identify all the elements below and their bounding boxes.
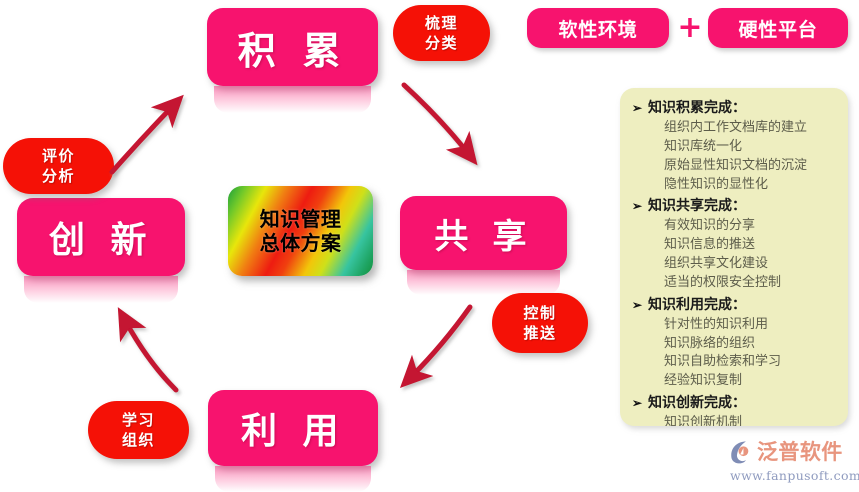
watermark-row: 泛普软件: [728, 439, 843, 465]
arrow-accumulate-to-share: [404, 85, 467, 152]
tag-control-push-line1: 控制: [523, 303, 556, 323]
outcome-item-list: 针对性的知识利用 知识脉络的组织 知识自助检索和学习 经验知识复制: [626, 316, 840, 391]
outcome-item: 知识库统一化: [664, 138, 840, 157]
outcome-group-header: ➢ 知识利用完成：: [626, 295, 840, 316]
outcome-group: ➢ 知识积累完成： 组织内工作文档库的建立 知识库统一化 原始显性知识文档的沉淀…: [626, 98, 840, 194]
outcome-item: 组织共享文化建设: [664, 255, 840, 274]
tag-control-push: 控制 推送: [492, 293, 588, 353]
cycle-node-accumulate-label: 积 累: [238, 20, 348, 75]
outcome-group-title: 知识利用完成：: [648, 295, 746, 316]
outcome-group-title: 知识积累完成：: [648, 98, 746, 119]
header-hard-label: 硬性平台: [738, 15, 817, 42]
arrow-innovate-to-accumulate: [112, 107, 172, 172]
cycle-node-accumulate: 积 累: [207, 8, 378, 86]
outcome-group-header: ➢ 知识积累完成：: [626, 98, 840, 119]
outcome-item-list: 有效知识的分享 知识信息的推送 组织共享文化建设 适当的权限安全控制: [626, 217, 840, 292]
tag-sort-classify-line2: 分类: [425, 33, 458, 53]
center-title-box: 知识管理 总体方案: [228, 186, 373, 276]
bullet-arrow-icon: ➢: [626, 99, 648, 117]
fanpu-logo-icon: [728, 439, 754, 465]
arrow-utilize-to-innovate: [126, 322, 176, 390]
tag-learn-organize-line1: 学习: [122, 410, 155, 430]
cycle-node-share-label: 共 享: [434, 209, 532, 258]
plus-label: +: [677, 13, 702, 43]
watermark-url: www.fanpusoft.com: [730, 468, 859, 483]
cycle-node-utilize: 利 用: [208, 390, 378, 466]
cycle-node-share: 共 享: [400, 196, 567, 270]
plus-sign: +: [673, 10, 707, 46]
outcome-group: ➢ 知识利用完成： 针对性的知识利用 知识脉络的组织 知识自助检索和学习 经验知…: [626, 295, 840, 391]
cycle-node-innovate: 创 新: [17, 198, 185, 276]
outcome-item-list: 知识创新机制 促进组织创新: [626, 414, 840, 426]
outcome-item-list: 组织内工作文档库的建立 知识库统一化 原始显性知识文档的沉淀 隐性知识的显性化: [626, 119, 840, 194]
outcome-item: 隐性知识的显性化: [664, 176, 840, 195]
bullet-arrow-icon: ➢: [626, 197, 648, 215]
center-title-line1: 知识管理: [260, 207, 342, 231]
outcome-group: ➢ 知识共享完成： 有效知识的分享 知识信息的推送 组织共享文化建设 适当的权限…: [626, 196, 840, 292]
header-pill-soft-environment: 软性环境: [527, 8, 669, 48]
outcome-group-header: ➢ 知识共享完成：: [626, 196, 840, 217]
cycle-node-utilize-label: 利 用: [241, 402, 345, 454]
outcome-item: 知识创新机制: [664, 414, 840, 426]
outcome-item: 原始显性知识文档的沉淀: [664, 157, 840, 176]
outcome-group-title: 知识共享完成：: [648, 196, 746, 217]
tag-evaluate-analyze: 评价 分析: [3, 138, 114, 194]
outcome-item: 组织内工作文档库的建立: [664, 119, 840, 138]
outcome-item: 经验知识复制: [664, 372, 840, 391]
outcomes-panel: ➢ 知识积累完成： 组织内工作文档库的建立 知识库统一化 原始显性知识文档的沉淀…: [620, 88, 848, 426]
tag-control-push-line2: 推送: [523, 323, 556, 343]
header-soft-label: 软性环境: [558, 15, 637, 42]
outcome-item: 有效知识的分享: [664, 217, 840, 236]
outcome-item: 适当的权限安全控制: [664, 274, 840, 293]
tag-evaluate-analyze-line2: 分析: [42, 166, 75, 186]
tag-sort-classify: 梳理 分类: [393, 5, 490, 61]
header-pill-hard-platform: 硬性平台: [708, 8, 848, 48]
bullet-arrow-icon: ➢: [626, 296, 648, 314]
center-title-line2: 总体方案: [260, 231, 342, 255]
outcome-group-header: ➢ 知识创新完成：: [626, 393, 840, 414]
outcome-item: 知识信息的推送: [664, 236, 840, 255]
watermark-brand: 泛普软件: [757, 442, 843, 463]
outcome-item: 知识脉络的组织: [664, 335, 840, 354]
tag-evaluate-analyze-line1: 评价: [42, 146, 75, 166]
outcome-item: 知识自助检索和学习: [664, 353, 840, 372]
tag-learn-organize: 学习 组织: [88, 401, 189, 459]
bullet-arrow-icon: ➢: [626, 394, 648, 412]
arrow-share-to-utilize: [412, 307, 470, 376]
outcome-group: ➢ 知识创新完成： 知识创新机制 促进组织创新: [626, 393, 840, 426]
tag-sort-classify-line1: 梳理: [425, 13, 458, 33]
outcome-group-title: 知识创新完成：: [648, 393, 746, 414]
cycle-node-innovate-label: 创 新: [49, 211, 153, 263]
diagram-canvas: 软性环境 + 硬性平台 积 累 共 享 利 用 创 新 知识管理 总体方案 梳理…: [0, 0, 859, 490]
tag-learn-organize-line2: 组织: [122, 430, 155, 450]
watermark-logo: 泛普软件 www.fanpusoft.com: [728, 437, 856, 485]
outcome-item: 针对性的知识利用: [664, 316, 840, 335]
